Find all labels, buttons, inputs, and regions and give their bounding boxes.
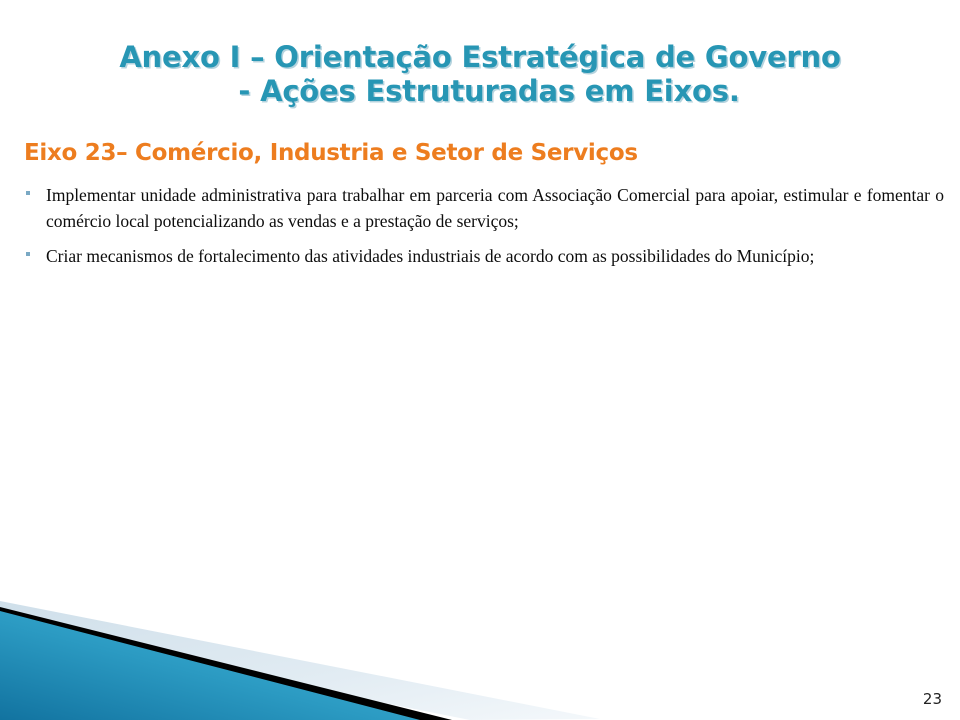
page-title: Anexo I – Orientação Estratégica de Gove…	[0, 40, 960, 108]
pale-band-shape	[0, 601, 600, 720]
footer-decoration-graphic	[0, 585, 960, 720]
slide-canvas: Anexo I – Orientação Estratégica de Gove…	[0, 0, 960, 720]
title-line-2: - Ações Estruturadas em Eixos.	[0, 74, 960, 108]
bullet-square-icon	[26, 191, 30, 195]
page-number: 23	[923, 690, 942, 708]
bullet-square-icon	[26, 252, 30, 256]
list-item-text: Implementar unidade administrativa para …	[46, 182, 944, 234]
list-item: Criar mecanismos de fortalecimento das a…	[0, 243, 960, 269]
list-item-text: Criar mecanismos de fortalecimento das a…	[46, 243, 944, 269]
teal-wedge-shape	[0, 611, 420, 720]
black-band-shape	[0, 607, 452, 720]
section-heading: Eixo 23– Comércio, Industria e Setor de …	[24, 140, 638, 167]
title-line-1: Anexo I – Orientação Estratégica de Gove…	[0, 40, 960, 74]
list-item: Implementar unidade administrativa para …	[0, 182, 960, 234]
bullet-list: Implementar unidade administrativa para …	[0, 182, 960, 278]
